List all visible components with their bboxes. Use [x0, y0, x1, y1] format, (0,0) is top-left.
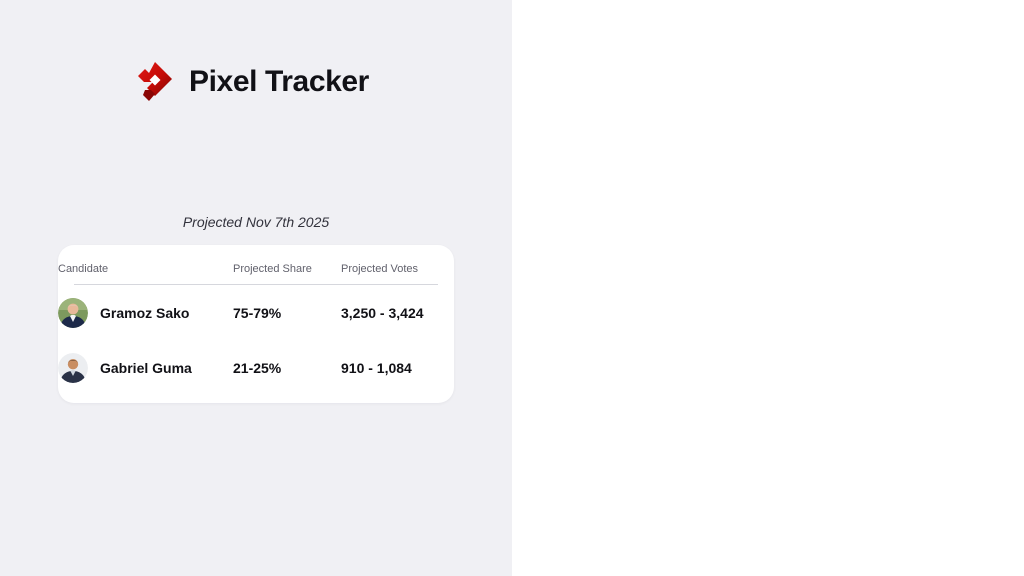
left-panel: Pixel Tracker Projected Nov 7th 2025 Can…: [0, 0, 512, 576]
candidate-cell: Gabriel Guma: [58, 340, 233, 395]
table-body: Gramoz Sako 75-79% 3,250 - 3,424: [58, 285, 454, 395]
column-header-projected-share: Projected Share: [233, 245, 341, 285]
candidate-cell: Gramoz Sako: [58, 285, 233, 340]
avatar-gabriel-guma: [58, 353, 88, 383]
right-panel: KOMISIONI QENDROR I ZGJEDHJEVE TIRANË Re…: [512, 0, 1024, 576]
projected-results-table: Candidate Projected Share Projected Vote…: [58, 245, 454, 395]
screenshot-root: Pixel Tracker Projected Nov 7th 2025 Can…: [0, 0, 1024, 576]
projected-share-value: 75-79%: [233, 285, 341, 340]
table-row[interactable]: Gabriel Guma 21-25% 910 - 1,084: [58, 340, 454, 395]
header-divider: [74, 284, 438, 285]
brand-title: Pixel Tracker: [189, 65, 369, 99]
brand-logo[interactable]: Pixel Tracker: [135, 60, 369, 104]
table-header: Candidate Projected Share Projected Vote…: [58, 245, 454, 285]
candidate-name: Gabriel Guma: [100, 360, 192, 376]
table-row[interactable]: Gramoz Sako 75-79% 3,250 - 3,424: [58, 285, 454, 340]
column-header-projected-votes: Projected Votes: [341, 245, 454, 285]
projected-votes-value: 3,250 - 3,424: [341, 285, 454, 340]
candidate-name: Gramoz Sako: [100, 305, 189, 321]
projected-votes-value: 910 - 1,084: [341, 340, 454, 395]
column-header-candidate: Candidate: [58, 245, 233, 285]
left-section-title: Projected Nov 7th 2025: [58, 214, 454, 230]
projected-results-card: Candidate Projected Share Projected Vote…: [58, 245, 454, 403]
avatar-gramoz-sako: [58, 298, 88, 328]
red-diamond-logo-icon: [135, 60, 175, 104]
projected-share-value: 21-25%: [233, 340, 341, 395]
